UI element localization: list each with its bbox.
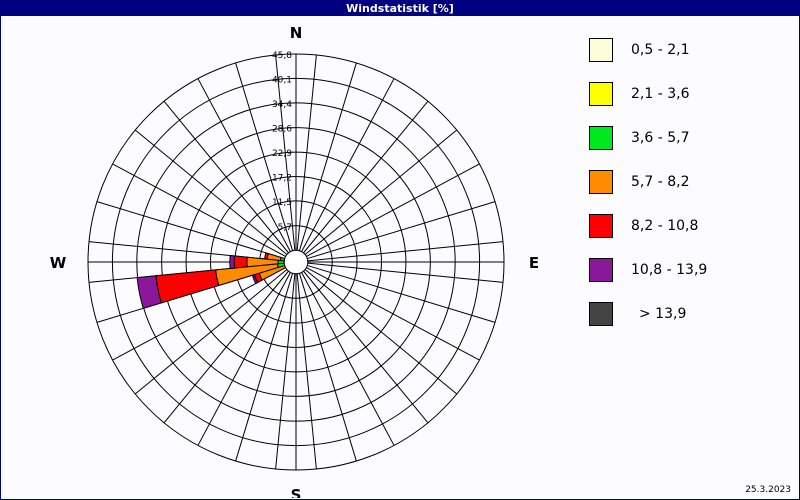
- legend: 0,5 - 2,12,1 - 3,63,6 - 5,75,7 - 8,28,2 …: [589, 36, 789, 344]
- legend-item[interactable]: 10,8 - 13,9: [589, 256, 789, 284]
- legend-item[interactable]: > 13,9: [589, 300, 789, 328]
- windrose-application: Windstatistik [%] 5,711,517,222,928,634,…: [0, 0, 800, 500]
- legend-swatch-2: [589, 126, 613, 150]
- legend-swatch-5: [589, 258, 613, 282]
- legend-swatch-1: [589, 82, 613, 106]
- petal-sector-24-bin-4: [234, 256, 247, 268]
- date-stamp: 25.3.2023: [745, 485, 791, 495]
- radial-tick-7: 45,8: [272, 51, 292, 61]
- legend-label: 3,6 - 5,7: [631, 130, 689, 146]
- radial-tick-0: 5,7: [278, 223, 292, 233]
- petal-sector-25-bin-4: [265, 253, 269, 259]
- compass-label-north: N: [290, 24, 303, 42]
- petal-group: [137, 253, 285, 308]
- radial-tick-5: 34,4: [272, 100, 292, 110]
- radial-tick-labels: 5,711,517,222,928,634,440,145,8: [272, 51, 292, 233]
- legend-label: 10,8 - 13,9: [631, 262, 707, 278]
- legend-swatch-0: [589, 38, 613, 62]
- radial-tick-3: 22,9: [272, 149, 292, 159]
- petal-sector-25-bin-3: [267, 254, 281, 261]
- legend-item[interactable]: 3,6 - 5,7: [589, 124, 789, 152]
- legend-item[interactable]: 2,1 - 3,6: [589, 80, 789, 108]
- radial-tick-6: 40,1: [272, 75, 292, 85]
- legend-item[interactable]: 5,7 - 8,2: [589, 168, 789, 196]
- legend-label: 5,7 - 8,2: [631, 174, 689, 190]
- legend-label: > 13,9: [639, 306, 686, 322]
- compass-label-south: S: [291, 486, 302, 498]
- legend-label: 0,5 - 2,1: [631, 42, 689, 58]
- legend-label: 8,2 - 10,8: [631, 218, 698, 234]
- petal-sector-24-bin-5: [230, 256, 235, 269]
- windrose-svg: 5,711,517,222,928,634,440,145,8NSWE: [1, 16, 571, 498]
- radial-tick-1: 11,5: [272, 198, 292, 208]
- legend-item[interactable]: 8,2 - 10,8: [589, 212, 789, 240]
- radial-tick-4: 28,6: [272, 125, 292, 135]
- compass-label-east: E: [529, 254, 539, 272]
- window-title: Windstatistik [%]: [346, 2, 454, 15]
- window-titlebar: Windstatistik [%]: [0, 0, 800, 16]
- compass-label-west: W: [50, 254, 67, 272]
- chart-canvas-frame: 5,711,517,222,928,634,440,145,8NSWE 0,5 …: [0, 16, 800, 500]
- legend-swatch-4: [589, 214, 613, 238]
- legend-swatch-3: [589, 170, 613, 194]
- petal-sector-23-bin-4: [156, 270, 219, 303]
- legend-label: 2,1 - 3,6: [631, 86, 689, 102]
- legend-swatch-6: [589, 302, 613, 326]
- windrose-plot: 5,711,517,222,928,634,440,145,8NSWE: [1, 16, 571, 498]
- legend-item[interactable]: 0,5 - 2,1: [589, 36, 789, 64]
- calm-center-disc: [284, 250, 308, 274]
- radial-tick-2: 17,2: [272, 174, 292, 184]
